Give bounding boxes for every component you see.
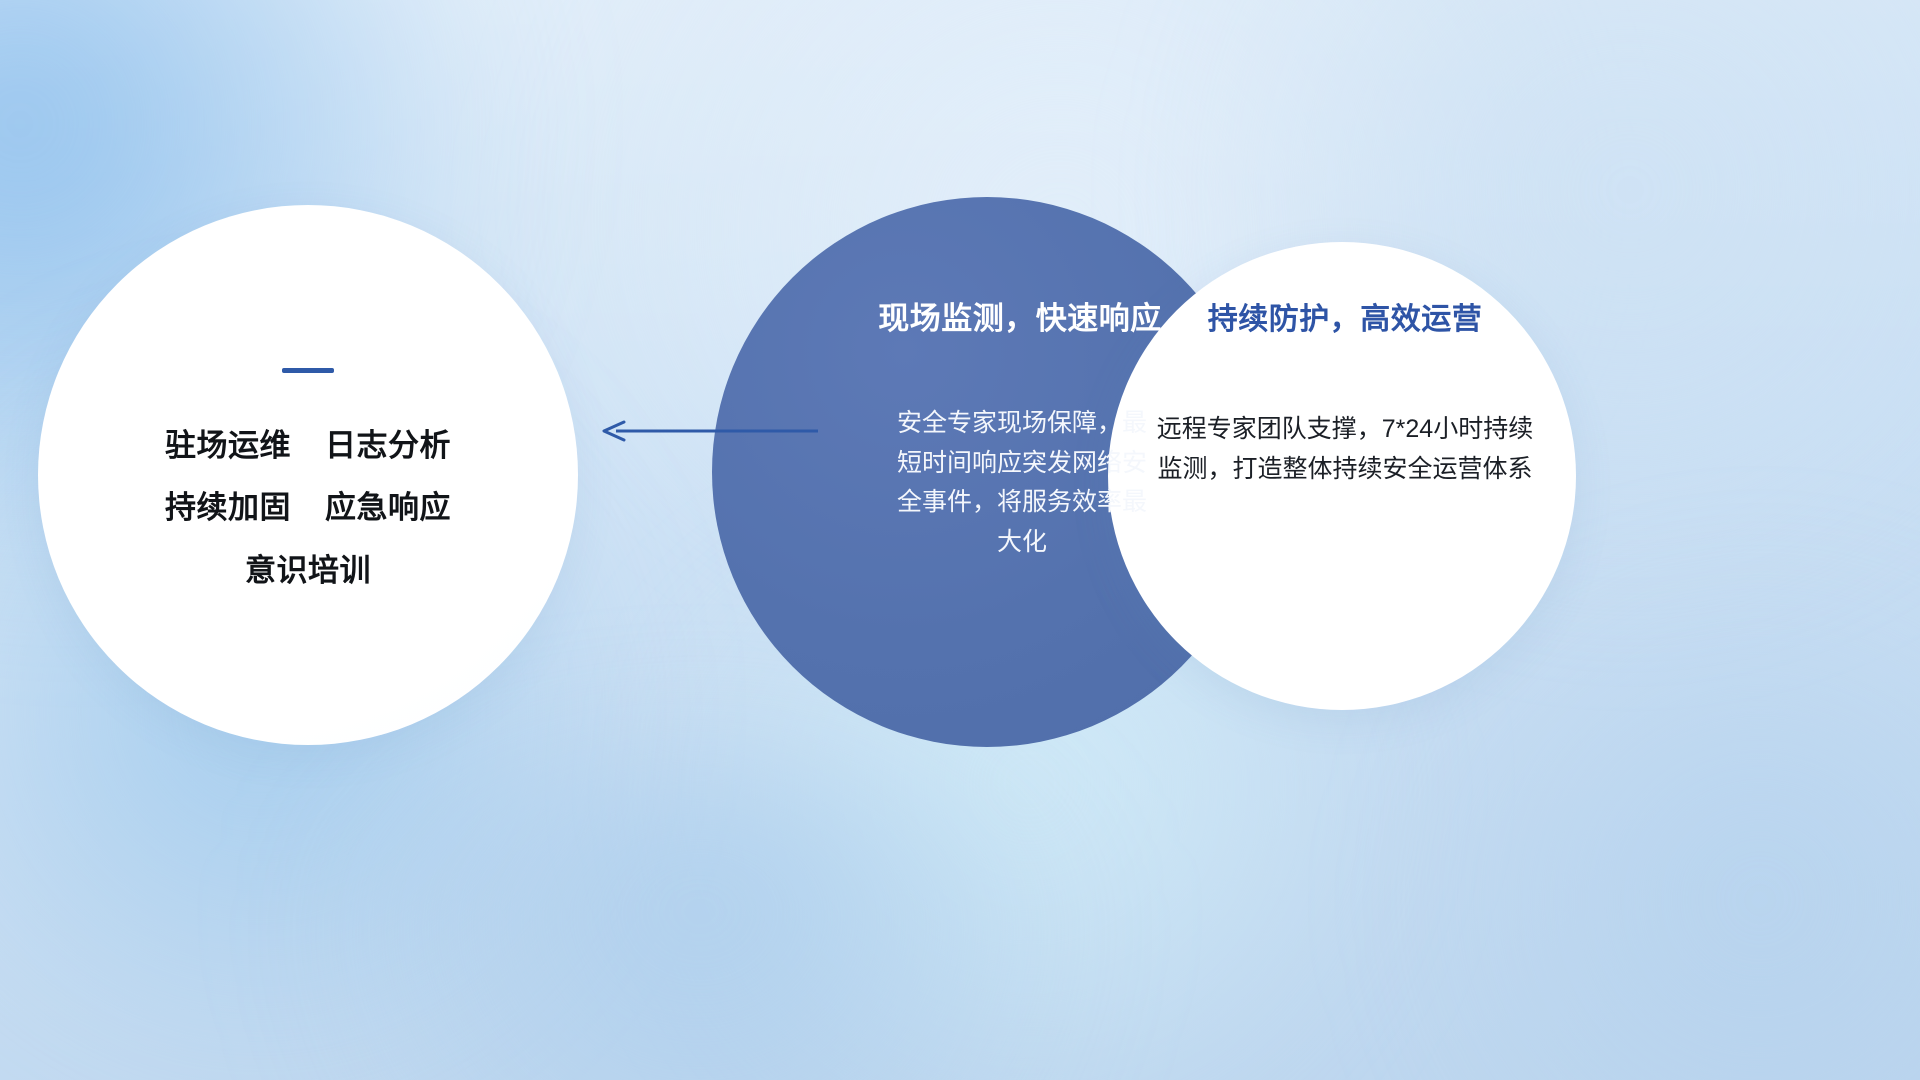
left-circle-row: 驻场运维 日志分析: [165, 429, 451, 463]
right-circle-body: 远程专家团队支撑，7*24小时持续监测，打造整体持续安全运营体系: [1145, 410, 1545, 489]
right-circle-title: 持续防护，高效运营: [1208, 294, 1483, 338]
left-circle-tag: 持续加固: [165, 491, 291, 525]
blue-dash-divider-icon: [282, 368, 334, 373]
left-pointing-arrow: [600, 418, 818, 449]
left-circle-row: 意识培训: [245, 554, 371, 588]
left-circle-content: 驻场运维 日志分析 持续加固 应急响应 意识培训: [38, 205, 578, 745]
left-circle-row: 持续加固 应急响应: [165, 491, 451, 525]
left-circle-tag: 日志分析: [325, 429, 451, 463]
right-circle-content: 持续防护，高效运营 远程专家团队支撑，7*24小时持续监测，打造整体持续安全运营…: [1108, 242, 1576, 710]
left-circle-tag: 驻场运维: [165, 429, 291, 463]
left-circle-tag: 意识培训: [245, 554, 371, 588]
left-circle-tag: 应急响应: [325, 491, 451, 525]
